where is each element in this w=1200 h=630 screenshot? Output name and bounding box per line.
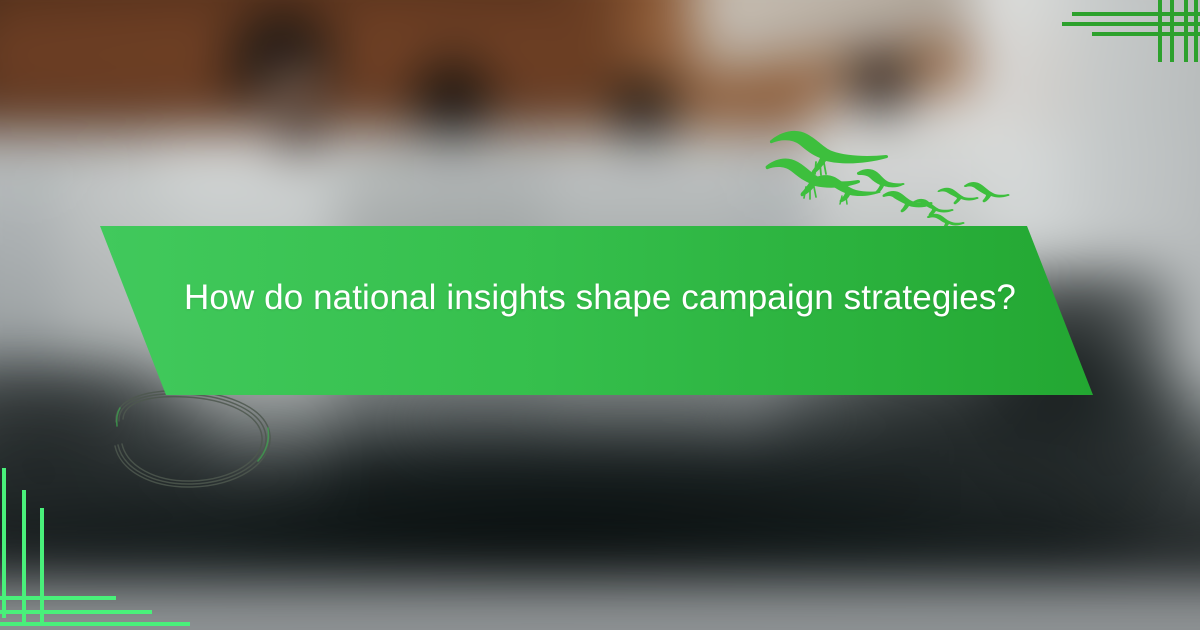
headline-text: How do national insights shape campaign … (150, 272, 1050, 323)
social-card: How do national insights shape campaign … (0, 0, 1200, 630)
bg-person-primary-arm (59, 155, 178, 385)
flying-birds-flock (762, 122, 1012, 234)
corner-bracket-bottom-left (0, 450, 240, 630)
bird-icon (938, 188, 979, 205)
bird-icon (913, 199, 954, 216)
bird-icon (857, 169, 905, 193)
bird-icon (927, 214, 965, 230)
bg-person-third-head (613, 75, 675, 141)
bg-person-fourth-head (851, 52, 909, 114)
bg-person-primary-beard (277, 100, 323, 152)
bg-person-second-head (415, 60, 489, 138)
bird-icon (813, 175, 881, 204)
corner-bracket-top-right (1050, 0, 1200, 62)
